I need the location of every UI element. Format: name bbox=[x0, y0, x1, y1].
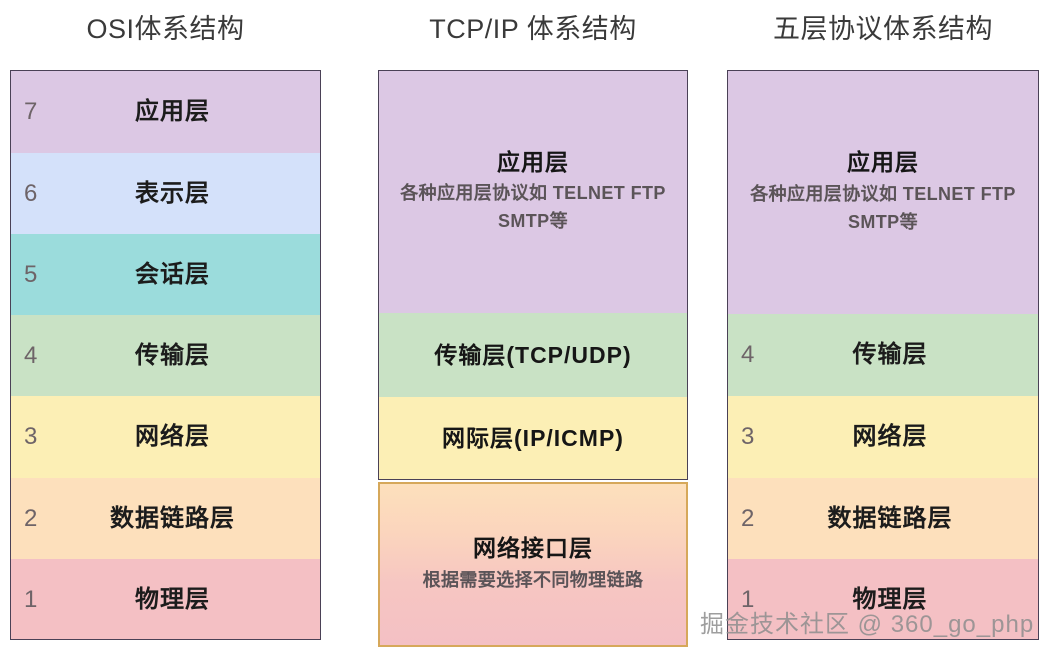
diagram-canvas: OSI体系结构 7 应用层 6 表示层 5 会话层 4 传输层 3 网络层 bbox=[0, 0, 1050, 670]
five-layer-datalink[interactable]: 2 数据链路层 bbox=[728, 478, 1038, 559]
column-osi: OSI体系结构 7 应用层 6 表示层 5 会话层 4 传输层 3 网络层 bbox=[10, 0, 321, 670]
five-layer-stack: 应用层 各种应用层协议如 TELNET FTP SMTP等 4 传输层 3 网络… bbox=[727, 70, 1039, 640]
column-title-osi: OSI体系结构 bbox=[10, 12, 321, 46]
osi-layer-network[interactable]: 3 网络层 bbox=[11, 396, 320, 478]
osi-layer-label: 网络层 bbox=[11, 423, 320, 451]
five-layer-sublabel: 各种应用层协议如 TELNET FTP SMTP等 bbox=[734, 181, 1032, 237]
osi-layer-datalink[interactable]: 2 数据链路层 bbox=[11, 478, 320, 559]
column-title-tcpip: TCP/IP 体系结构 bbox=[378, 12, 688, 46]
osi-layer-label: 会话层 bbox=[11, 261, 320, 289]
tcpip-layer-network-interface[interactable]: 网络接口层 根据需要选择不同物理链路 bbox=[378, 482, 688, 647]
osi-layer-number: 3 bbox=[24, 425, 37, 449]
five-layer-label: 网络层 bbox=[728, 423, 1038, 451]
osi-layer-application[interactable]: 7 应用层 bbox=[11, 71, 320, 153]
watermark-text: 掘金技术社区 @ 360_go_php bbox=[700, 604, 1034, 639]
osi-layer-number: 5 bbox=[24, 263, 37, 287]
osi-layer-number: 2 bbox=[24, 507, 37, 531]
five-layer-number: 3 bbox=[741, 425, 754, 449]
osi-stack: 7 应用层 6 表示层 5 会话层 4 传输层 3 网络层 2 数据链路层 bbox=[10, 70, 321, 640]
tcpip-layer-sublabel: 根据需要选择不同物理链路 bbox=[392, 567, 674, 595]
tcpip-layer-transport[interactable]: 传输层(TCP/UDP) bbox=[378, 313, 688, 397]
osi-layer-number: 1 bbox=[24, 588, 37, 612]
osi-layer-label: 传输层 bbox=[11, 342, 320, 370]
osi-layer-presentation[interactable]: 6 表示层 bbox=[11, 153, 320, 234]
tcpip-layer-sublabel: 各种应用层协议如 TELNET FTP SMTP等 bbox=[385, 180, 681, 236]
column-tcpip: TCP/IP 体系结构 应用层 各种应用层协议如 TELNET FTP SMTP… bbox=[378, 0, 688, 670]
five-layer-number: 2 bbox=[741, 507, 754, 531]
five-layer-network[interactable]: 3 网络层 bbox=[728, 396, 1038, 478]
five-layer-label: 数据链路层 bbox=[728, 505, 1038, 533]
tcpip-layer-internet[interactable]: 网际层(IP/ICMP) bbox=[378, 397, 688, 480]
osi-layer-number: 7 bbox=[24, 100, 37, 124]
osi-layer-session[interactable]: 5 会话层 bbox=[11, 234, 320, 315]
tcpip-stack: 应用层 各种应用层协议如 TELNET FTP SMTP等 传输层(TCP/UD… bbox=[378, 70, 688, 647]
tcpip-layer-label: 传输层(TCP/UDP) bbox=[434, 341, 631, 370]
five-layer-number: 4 bbox=[741, 343, 754, 367]
tcpip-layer-label: 网际层(IP/ICMP) bbox=[442, 424, 624, 453]
tcpip-layer-label: 应用层 bbox=[497, 148, 569, 177]
five-layer-transport[interactable]: 4 传输层 bbox=[728, 314, 1038, 396]
five-layer-label: 传输层 bbox=[728, 341, 1038, 369]
tcpip-layer-label: 网络接口层 bbox=[473, 534, 593, 563]
osi-layer-physical[interactable]: 1 物理层 bbox=[11, 559, 320, 640]
five-layer-label: 应用层 bbox=[847, 148, 919, 177]
osi-layer-label: 表示层 bbox=[11, 180, 320, 208]
osi-layer-number: 6 bbox=[24, 182, 37, 206]
tcpip-layer-application[interactable]: 应用层 各种应用层协议如 TELNET FTP SMTP等 bbox=[378, 70, 688, 313]
column-five-layer: 五层协议体系结构 应用层 各种应用层协议如 TELNET FTP SMTP等 4… bbox=[727, 0, 1039, 670]
five-layer-application[interactable]: 应用层 各种应用层协议如 TELNET FTP SMTP等 bbox=[728, 71, 1038, 314]
column-title-five-layer: 五层协议体系结构 bbox=[727, 12, 1039, 46]
osi-layer-transport[interactable]: 4 传输层 bbox=[11, 315, 320, 396]
osi-layer-label: 物理层 bbox=[11, 586, 320, 614]
osi-layer-label: 应用层 bbox=[11, 98, 320, 126]
osi-layer-label: 数据链路层 bbox=[11, 505, 320, 533]
osi-layer-number: 4 bbox=[24, 344, 37, 368]
